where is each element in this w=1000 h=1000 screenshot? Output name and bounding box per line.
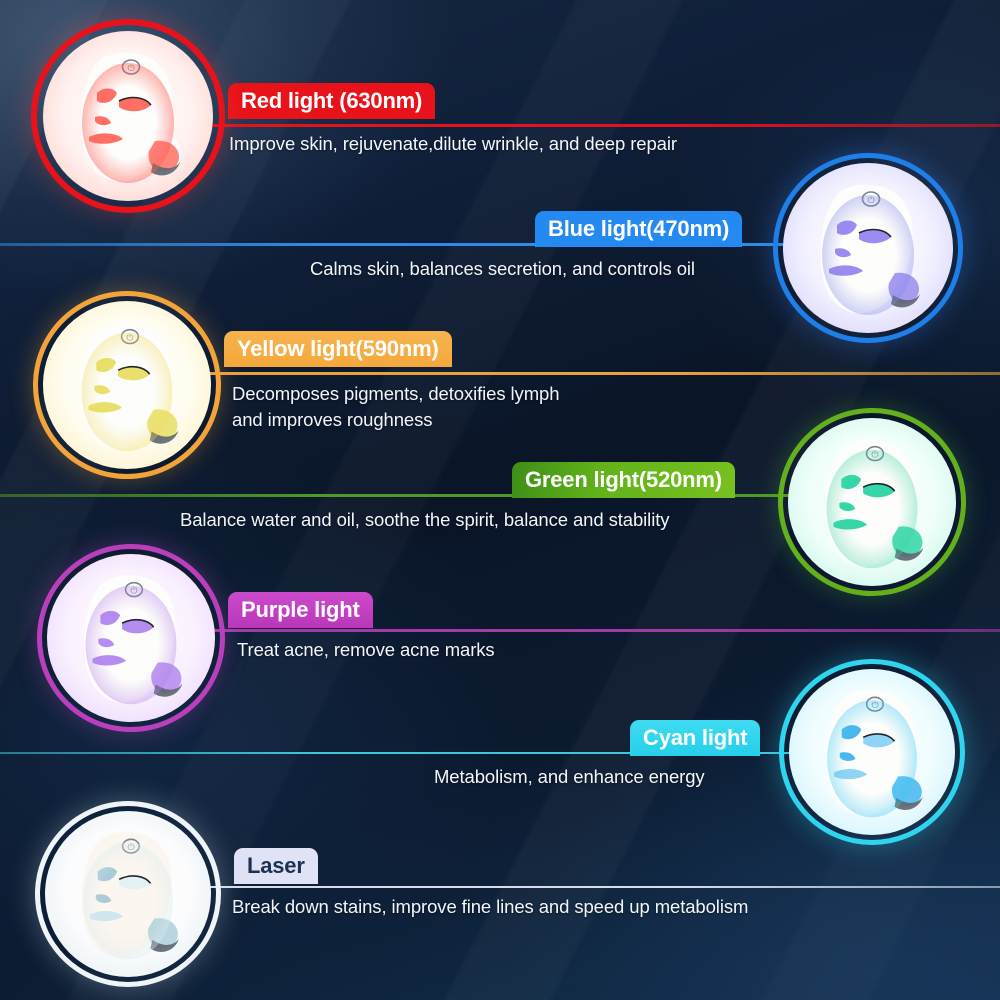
mask-circle-yellow: ⏻ (38, 296, 216, 474)
connector-line-laser (160, 886, 1000, 888)
circle-inner-blue: ⏻ (783, 163, 953, 333)
description-red: Improve skin, rejuvenate,dilute wrinkle,… (229, 131, 677, 157)
badge-blue[interactable]: Blue light(470nm) (535, 211, 742, 247)
badge-yellow[interactable]: Yellow light(590nm) (224, 331, 452, 367)
led-mask-purple: ⏻ (47, 554, 215, 722)
mask-circle-green: ⏻ (783, 413, 961, 591)
circle-inner-laser: ⏻ (45, 811, 211, 977)
circle-inner-red: ⏻ (43, 31, 213, 201)
led-mask-blue: ⏻ (783, 163, 953, 333)
connector-line-red (160, 124, 1000, 127)
description-blue: Calms skin, balances secretion, and cont… (310, 256, 695, 282)
badge-laser[interactable]: Laser (234, 848, 318, 884)
led-mask-infographic: Red light (630nm) Improve skin, rejuvena… (0, 0, 1000, 1000)
mask-circle-laser: ⏻ (40, 806, 216, 982)
mask-circle-red: ⏻ (37, 25, 219, 207)
connector-line-purple (160, 629, 1000, 632)
badge-green[interactable]: Green light(520nm) (512, 462, 735, 498)
led-mask-red: ⏻ (43, 31, 213, 201)
description-cyan: Metabolism, and enhance energy (434, 764, 705, 790)
mask-circle-purple: ⏻ (42, 549, 220, 727)
circle-inner-cyan: ⏻ (789, 669, 955, 835)
circle-inner-purple: ⏻ (47, 554, 215, 722)
mask-circle-cyan: ⏻ (784, 664, 960, 840)
connector-line-yellow (160, 372, 1000, 375)
badge-purple[interactable]: Purple light (228, 592, 373, 628)
description-yellow: Decomposes pigments, detoxifies lymph an… (232, 381, 559, 434)
mask-circle-blue: ⏻ (778, 158, 958, 338)
led-mask-laser: ⏻ (45, 811, 211, 977)
circle-inner-yellow: ⏻ (43, 301, 211, 469)
description-laser: Break down stains, improve fine lines an… (232, 894, 748, 920)
led-mask-cyan: ⏻ (789, 669, 955, 835)
led-mask-yellow: ⏻ (43, 301, 211, 469)
badge-cyan[interactable]: Cyan light (630, 720, 760, 756)
badge-red[interactable]: Red light (630nm) (228, 83, 435, 119)
circle-inner-green: ⏻ (788, 418, 956, 586)
description-purple: Treat acne, remove acne marks (237, 637, 495, 663)
description-green: Balance water and oil, soothe the spirit… (180, 507, 669, 533)
led-mask-green: ⏻ (788, 418, 956, 586)
